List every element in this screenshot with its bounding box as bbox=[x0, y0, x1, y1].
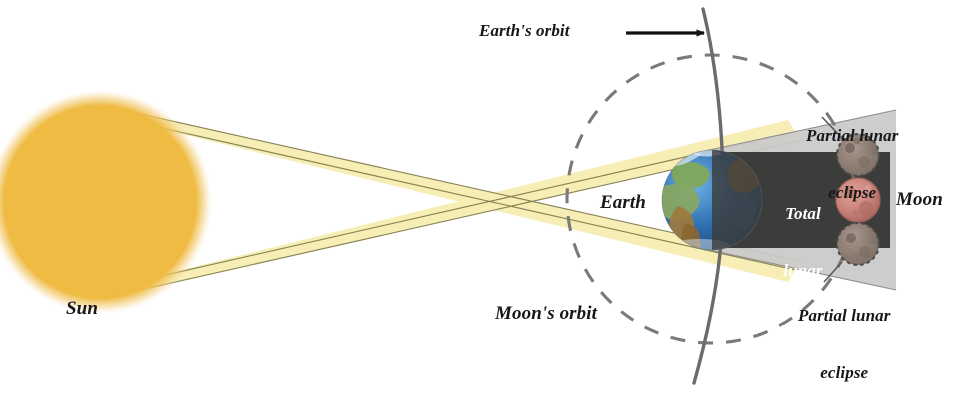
label-total-lunar-eclipse: Total lunar eclipse bbox=[779, 166, 827, 375]
label-moon: Moon bbox=[896, 189, 943, 210]
eclipse-diagram-canvas: Sun Earth Moon Earth's orbit Moon's orbi… bbox=[0, 0, 962, 414]
label-partial-top-line1: Partial lunar bbox=[806, 126, 898, 145]
label-sun: Sun bbox=[66, 298, 98, 319]
label-total-line1: Total bbox=[779, 204, 827, 223]
label-moons-orbit: Moon's orbit bbox=[495, 303, 597, 324]
label-earth: Earth bbox=[600, 192, 646, 213]
label-total-line2: lunar bbox=[779, 261, 827, 280]
label-earths-orbit: Earth's orbit bbox=[479, 21, 570, 40]
label-total-line3: eclipse bbox=[779, 318, 827, 337]
